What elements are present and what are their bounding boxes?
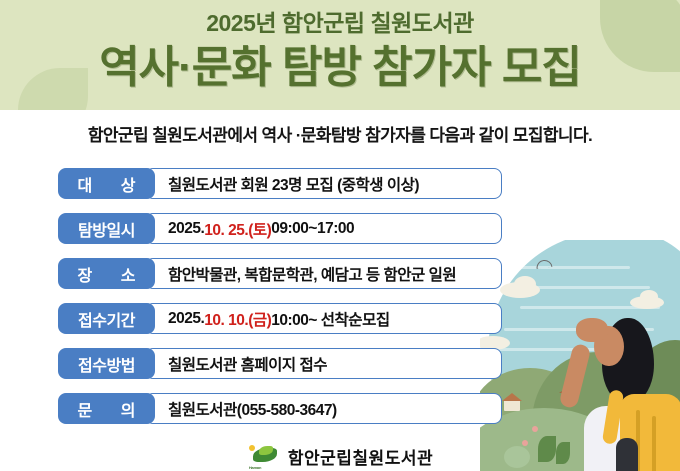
value-suffix: 10:00~ 선착순모집	[271, 308, 389, 330]
info-row-place: 장 소 함안박물관, 복합문학관, 예담고 등 함안군 일원	[58, 258, 502, 289]
info-row-application-period: 접수기간 2025. 10. 10.(금) 10:00~ 선착순모집	[58, 303, 502, 334]
library-logo-icon: Haman	[247, 443, 281, 469]
info-row-date: 탐방일시 2025. 10. 25.(토) 09:00~17:00	[58, 213, 502, 244]
header-subtitle: 2025년 함안군립 칠원도서관	[0, 8, 680, 38]
value-text: 칠원도서관(055-580-3647)	[168, 398, 337, 420]
value-suffix: 09:00~17:00	[271, 220, 354, 238]
info-row-value: 2025. 10. 10.(금) 10:00~ 선착순모집	[145, 303, 502, 334]
hiker-illustration	[480, 240, 680, 471]
value-highlight: 10. 10.(금)	[204, 308, 271, 330]
info-row-label: 대 상	[58, 168, 155, 199]
footer-organization: 함안군립칠원도서관	[288, 444, 433, 469]
value-text: 칠원도서관 회원 23명 모집 (중학생 이상)	[168, 173, 419, 195]
flower-icon	[532, 426, 538, 432]
logo-accent-dot	[249, 445, 255, 451]
info-row-value: 칠원도서관 회원 23명 모집 (중학생 이상)	[145, 168, 502, 199]
hiker-hand	[576, 318, 608, 342]
cloud-icon	[640, 290, 658, 303]
header-band: 2025년 함안군립 칠원도서관 역사·문화 탐방 참가자 모집	[0, 0, 680, 110]
cloud-icon	[514, 276, 536, 292]
info-row-label: 접수기간	[58, 303, 155, 334]
sky-wave	[532, 286, 650, 289]
value-prefix: 2025.	[168, 310, 204, 328]
info-row-target: 대 상 칠원도서관 회원 23명 모집 (중학생 이상)	[58, 168, 502, 199]
info-row-value: 칠원도서관(055-580-3647)	[145, 393, 502, 424]
info-row-label: 탐방일시	[58, 213, 155, 244]
value-prefix: 2025.	[168, 220, 204, 238]
info-row-inquiry: 문 의 칠원도서관(055-580-3647)	[58, 393, 502, 424]
sky-wave	[510, 266, 630, 269]
house-icon	[504, 400, 520, 411]
poster: 2025년 함안군립 칠원도서관 역사·문화 탐방 참가자 모집	[0, 0, 680, 471]
footer: Haman 함안군립칠원도서관	[0, 443, 680, 469]
value-text: 칠원도서관 홈페이지 접수	[168, 353, 327, 375]
info-row-value: 칠원도서관 홈페이지 접수	[145, 348, 502, 379]
info-row-value: 2025. 10. 25.(토) 09:00~17:00	[145, 213, 502, 244]
info-row-label: 문 의	[58, 393, 155, 424]
value-text: 함안박물관, 복합문학관, 예담고 등 함안군 일원	[168, 263, 456, 285]
intro-text: 함안군립 칠원도서관에서 역사 ·문화탐방 참가자를 다음과 같이 모집합니다.	[0, 124, 680, 148]
logo-caption: Haman	[249, 465, 261, 470]
info-row-application-method: 접수방법 칠원도서관 홈페이지 접수	[58, 348, 502, 379]
info-row-value: 함안박물관, 복합문학관, 예담고 등 함안군 일원	[145, 258, 502, 289]
page-title: 역사·문화 탐방 참가자 모집	[0, 40, 680, 96]
value-highlight: 10. 25.(토)	[204, 218, 271, 240]
info-table: 대 상 칠원도서관 회원 23명 모집 (중학생 이상) 탐방일시 2025. …	[58, 168, 502, 438]
info-row-label: 장 소	[58, 258, 155, 289]
info-row-label: 접수방법	[58, 348, 155, 379]
